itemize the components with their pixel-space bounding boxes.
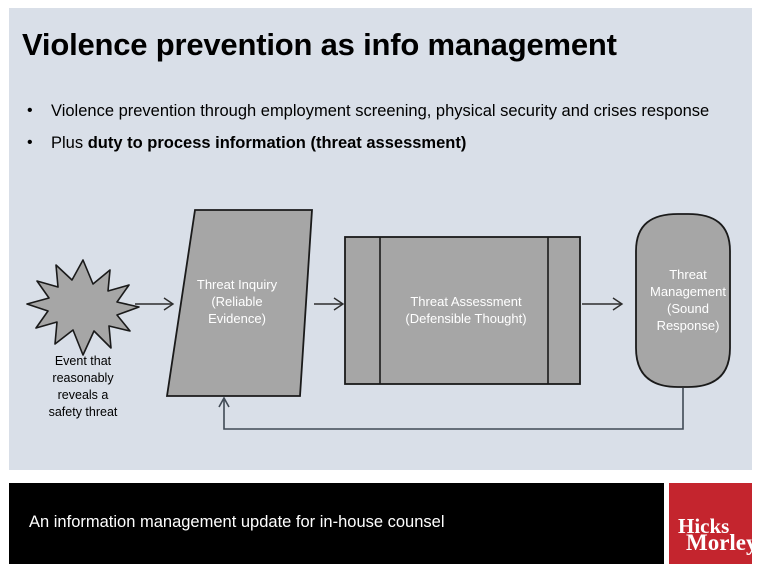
- threat-management-shape: [636, 214, 730, 387]
- event-starburst-shape: [27, 260, 139, 355]
- threat-inquiry-shape: [167, 210, 312, 396]
- connector-arrow-assessment-to-management: [582, 298, 622, 310]
- footer-text: An information management update for in-…: [29, 513, 445, 532]
- logo-word-morley: Morley: [686, 531, 758, 554]
- connector-arrow-inquiry-to-assessment: [314, 298, 343, 310]
- hicks-morley-logo: Hicks Morley: [669, 483, 752, 564]
- event-caption: Event that reasonably reveals a safety t…: [28, 353, 138, 421]
- footer-bar: An information management update for in-…: [9, 483, 664, 564]
- connector-arrow-event-to-inquiry: [135, 298, 173, 310]
- slide-body-panel: Violence prevention as info management •…: [9, 8, 752, 470]
- threat-assessment-shape: [345, 237, 580, 384]
